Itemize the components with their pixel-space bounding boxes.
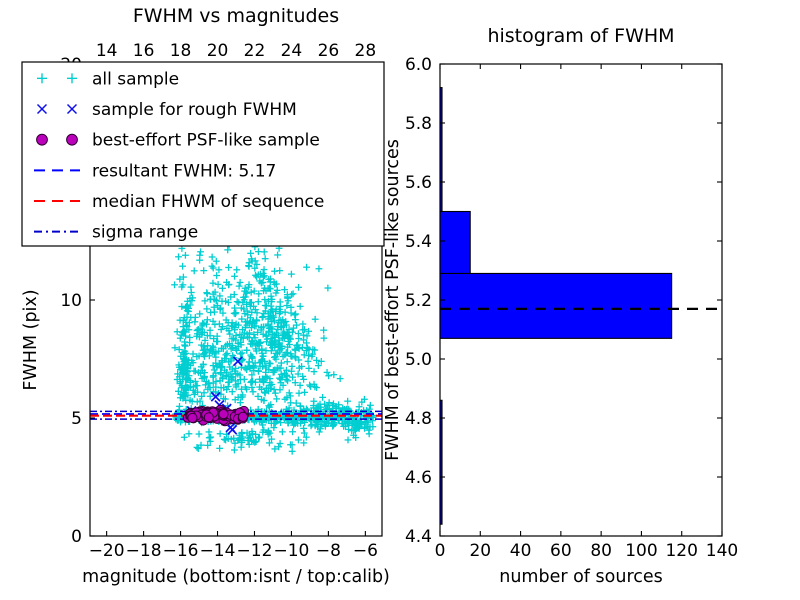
marker-plus bbox=[231, 305, 238, 312]
right-yticklabel: 5.2 bbox=[405, 291, 432, 311]
legend-label: resultant FWHM: 5.17 bbox=[92, 161, 276, 181]
marker-plus bbox=[277, 386, 284, 393]
marker-plus bbox=[210, 280, 217, 287]
psf-sample-point bbox=[188, 413, 197, 422]
marker-plus bbox=[300, 376, 307, 383]
marker-plus bbox=[367, 402, 374, 409]
marker-plus bbox=[191, 267, 198, 274]
marker-plus bbox=[188, 289, 195, 296]
marker-plus bbox=[300, 332, 307, 339]
marker-plus bbox=[224, 246, 231, 253]
right-xticklabel: 140 bbox=[706, 541, 738, 561]
marker-plus bbox=[196, 431, 203, 438]
marker-plus bbox=[299, 321, 306, 328]
left-xaxis-label: magnitude (bottom:isnt / top:calib) bbox=[82, 567, 390, 587]
marker-plus bbox=[324, 369, 331, 376]
marker-plus bbox=[312, 316, 319, 323]
marker-plus bbox=[203, 289, 210, 296]
right-xticklabel: 20 bbox=[469, 541, 491, 561]
marker-plus bbox=[219, 285, 226, 292]
marker-plus bbox=[272, 390, 279, 397]
right-yticklabel: 5.0 bbox=[405, 350, 432, 370]
marker-plus bbox=[175, 253, 182, 260]
left-xticklabel-bottom: −16 bbox=[163, 541, 199, 561]
marker-plus bbox=[182, 252, 189, 259]
matplotlib-figure: −20−18−16−14−12−10−8−6141618202224262805… bbox=[0, 0, 800, 600]
marker-plus bbox=[191, 368, 198, 375]
marker-plus bbox=[211, 304, 218, 311]
marker-plus bbox=[311, 368, 318, 375]
marker-plus bbox=[250, 388, 257, 395]
right-plot-data bbox=[440, 88, 722, 525]
marker-plus bbox=[247, 250, 254, 257]
marker-plus bbox=[248, 378, 255, 385]
marker-plus bbox=[217, 430, 224, 437]
left-yaxis-label: FWHM (pix) bbox=[21, 289, 41, 390]
legend-label: sample for rough FWHM bbox=[92, 100, 297, 120]
marker-plus bbox=[216, 445, 223, 452]
marker-plus bbox=[289, 428, 296, 435]
marker-plus bbox=[261, 296, 268, 303]
marker-plus bbox=[295, 284, 302, 291]
marker-plus bbox=[255, 298, 262, 305]
right-yticklabel: 4.6 bbox=[405, 468, 432, 488]
marker-plus bbox=[238, 444, 245, 451]
marker-plus bbox=[209, 254, 216, 261]
marker-plus bbox=[171, 281, 178, 288]
marker-plus bbox=[196, 311, 203, 318]
right-xticklabel: 0 bbox=[435, 541, 446, 561]
left-xticklabel-bottom: −20 bbox=[89, 541, 125, 561]
right-panel-title: histogram of FWHM bbox=[487, 25, 674, 47]
marker-plus bbox=[305, 358, 312, 365]
right-yticklabel: 5.6 bbox=[405, 173, 432, 193]
marker-plus bbox=[246, 263, 253, 270]
marker-plus bbox=[186, 430, 193, 437]
marker-plus bbox=[296, 390, 303, 397]
marker-plus bbox=[306, 365, 313, 372]
marker-plus bbox=[292, 316, 299, 323]
marker-plus bbox=[203, 305, 210, 312]
marker-plus bbox=[225, 383, 232, 390]
marker-plus bbox=[295, 335, 302, 342]
left-xticklabel-top: 16 bbox=[133, 41, 155, 61]
right-yticklabel: 5.8 bbox=[405, 114, 432, 134]
marker-plus bbox=[320, 327, 327, 334]
right-xticklabel: 40 bbox=[510, 541, 532, 561]
marker-plus bbox=[204, 316, 211, 323]
legend-label: sigma range bbox=[92, 223, 198, 243]
left-xticklabel-top: 20 bbox=[207, 41, 229, 61]
left-xticklabel-bottom: −10 bbox=[273, 541, 309, 561]
marker-plus bbox=[237, 279, 244, 286]
marker-plus bbox=[276, 267, 283, 274]
right-xticklabel: 100 bbox=[625, 541, 657, 561]
marker-plus bbox=[287, 393, 294, 400]
marker-plus bbox=[241, 376, 248, 383]
marker-plus bbox=[316, 429, 323, 436]
marker-plus bbox=[303, 264, 310, 271]
right-yticklabel: 4.8 bbox=[405, 409, 432, 429]
marker-plus bbox=[262, 302, 269, 309]
left-yticklabel: 0 bbox=[71, 527, 82, 547]
marker-plus bbox=[345, 437, 352, 444]
histogram-bar bbox=[440, 273, 672, 338]
marker-plus bbox=[330, 371, 337, 378]
right-yticklabel: 6.0 bbox=[405, 55, 432, 75]
left-xticklabel-top: 22 bbox=[244, 41, 266, 61]
legend-label: all sample bbox=[92, 69, 179, 89]
right-yticklabel: 4.4 bbox=[405, 527, 432, 547]
marker-plus bbox=[174, 328, 181, 335]
legend-marker-circle-icon bbox=[37, 134, 48, 145]
marker-plus bbox=[310, 398, 317, 405]
marker-plus bbox=[287, 441, 294, 448]
legend-marker-circle-icon bbox=[67, 134, 78, 145]
marker-plus bbox=[304, 332, 311, 339]
marker-plus bbox=[289, 448, 296, 455]
left-xticklabel-bottom: −8 bbox=[316, 541, 341, 561]
right-yaxis-label: FWHM of best-effort PSF-like sources bbox=[383, 139, 403, 461]
left-xticklabel-top: 24 bbox=[281, 41, 303, 61]
left-yticklabel: 5 bbox=[71, 409, 82, 429]
marker-plus bbox=[262, 255, 269, 262]
left-panel-title: FWHM vs magnitudes bbox=[133, 5, 339, 27]
marker-plus bbox=[200, 267, 207, 274]
marker-plus bbox=[273, 396, 280, 403]
left-xticklabel-bottom: −14 bbox=[200, 541, 236, 561]
psf-sample-point bbox=[204, 413, 213, 422]
marker-plus bbox=[284, 358, 291, 365]
marker-plus bbox=[206, 434, 213, 441]
left-yticklabel: 10 bbox=[60, 291, 82, 311]
marker-plus bbox=[277, 299, 284, 306]
marker-plus bbox=[316, 265, 323, 272]
psf-sample-point bbox=[238, 412, 247, 421]
marker-plus bbox=[231, 273, 238, 280]
marker-plus bbox=[325, 372, 332, 379]
marker-plus bbox=[202, 297, 209, 304]
left-xticklabel-top: 18 bbox=[170, 41, 192, 61]
left-xticklabel-top: 14 bbox=[96, 41, 118, 61]
right-xticklabel: 120 bbox=[665, 541, 697, 561]
left-xticklabel-bottom: −12 bbox=[237, 541, 273, 561]
marker-plus bbox=[288, 271, 295, 278]
psf-sample-point bbox=[219, 410, 228, 419]
marker-plus bbox=[337, 375, 344, 382]
legend-box bbox=[22, 62, 384, 246]
marker-plus bbox=[215, 281, 222, 288]
left-xticklabel-bottom: −18 bbox=[126, 541, 162, 561]
right-xticklabel: 60 bbox=[550, 541, 572, 561]
marker-plus bbox=[197, 248, 204, 255]
marker-plus bbox=[297, 303, 304, 310]
marker-plus bbox=[196, 252, 203, 259]
marker-plus bbox=[324, 285, 331, 292]
marker-plus bbox=[247, 379, 254, 386]
marker-plus bbox=[274, 252, 281, 259]
marker-plus bbox=[279, 428, 286, 435]
marker-plus bbox=[236, 283, 243, 290]
marker-plus bbox=[290, 290, 297, 297]
marker-plus bbox=[301, 389, 308, 396]
marker-plus bbox=[233, 266, 240, 273]
marker-plus bbox=[231, 447, 238, 454]
right-xaxis-label: number of sources bbox=[499, 567, 663, 587]
histogram-bar bbox=[440, 212, 470, 274]
marker-plus bbox=[299, 326, 306, 333]
figure-canvas: −20−18−16−14−12−10−8−6141618202224262805… bbox=[0, 0, 800, 600]
right-xticklabel: 80 bbox=[590, 541, 612, 561]
marker-plus bbox=[255, 248, 262, 255]
left-xticklabel-top: 26 bbox=[318, 41, 340, 61]
marker-plus bbox=[181, 434, 188, 441]
marker-plus bbox=[277, 440, 284, 447]
marker-plus bbox=[320, 335, 327, 342]
marker-plus bbox=[176, 403, 183, 410]
marker-plus bbox=[319, 394, 326, 401]
marker-plus bbox=[225, 264, 232, 271]
marker-plus bbox=[366, 430, 373, 437]
left-xticklabel-bottom: −6 bbox=[353, 541, 378, 561]
marker-plus bbox=[179, 263, 186, 270]
marker-plus bbox=[261, 248, 268, 255]
legend-label: best-effort PSF-like sample bbox=[92, 131, 320, 151]
legend-label: median FHWM of sequence bbox=[92, 192, 324, 212]
right-yticklabel: 5.4 bbox=[405, 232, 432, 252]
marker-plus bbox=[213, 258, 220, 265]
marker-plus bbox=[288, 368, 295, 375]
marker-plus bbox=[261, 266, 268, 273]
marker-plus bbox=[207, 309, 214, 316]
left-xticklabel-top: 28 bbox=[355, 41, 377, 61]
marker-plus bbox=[344, 398, 351, 405]
